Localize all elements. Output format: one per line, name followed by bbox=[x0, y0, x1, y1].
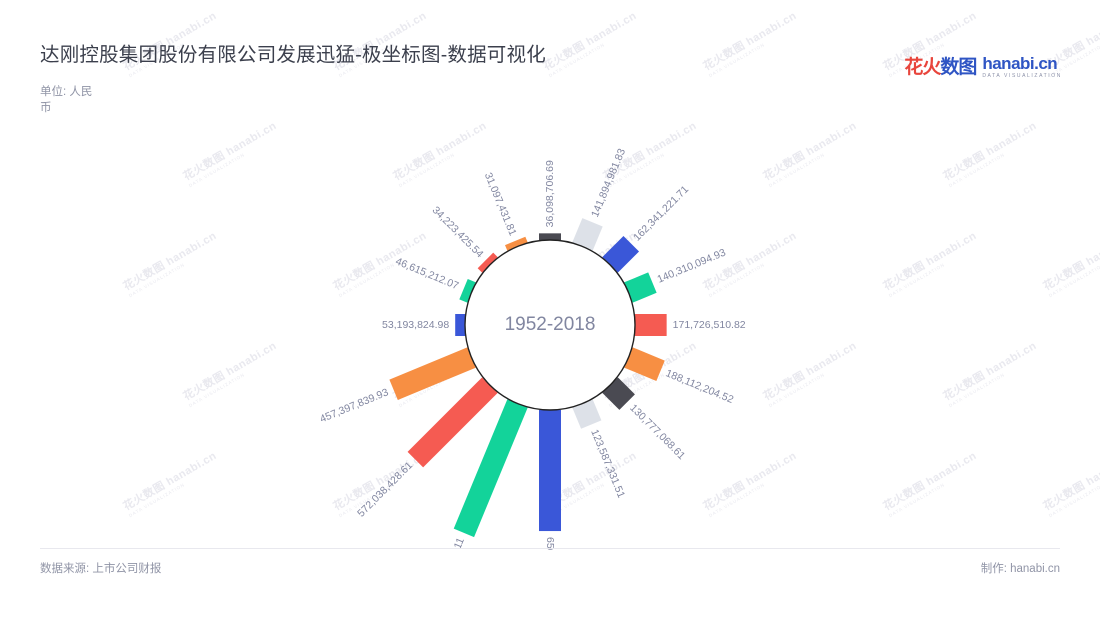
footer-divider bbox=[40, 548, 1060, 549]
polar-bar-rect[interactable] bbox=[389, 347, 475, 400]
polar-bar[interactable] bbox=[408, 377, 498, 467]
polar-bar-rect[interactable] bbox=[539, 410, 561, 531]
logo-english-block: hanabi.cn DATA VISUALIZATION bbox=[982, 55, 1062, 79]
chart-page: 花火数图 hanabi.cnDATA VISUALIZATION花火数图 han… bbox=[0, 0, 1100, 620]
polar-bar-rect[interactable] bbox=[539, 233, 561, 240]
logo-chinese-text: 花火数图 bbox=[904, 58, 976, 77]
page-title: 达刚控股集团股份有限公司发展迅猛-极坐标图-数据可视化 bbox=[40, 38, 546, 67]
logo-en-main: hanabi.cn bbox=[982, 55, 1062, 72]
polar-bar-value-label: 162,341,221.71 bbox=[631, 183, 691, 243]
watermark: 花火数图 hanabi.cnDATA VISUALIZATION bbox=[540, 7, 642, 78]
polar-bar[interactable] bbox=[635, 314, 667, 336]
hanabi-logo: 花火数图 hanabi.cn DATA VISUALIZATION bbox=[904, 52, 1062, 82]
polar-bar[interactable] bbox=[539, 233, 561, 240]
polar-bar-value-label: 130,777,068.61 bbox=[627, 402, 687, 462]
polar-bar-value-label: 31,097,431.81 bbox=[482, 171, 519, 238]
polar-bar[interactable] bbox=[539, 410, 561, 531]
watermark: 花火数图 hanabi.cnDATA VISUALIZATION bbox=[700, 7, 802, 78]
polar-bar-value-label: 34,223,425.54 bbox=[430, 204, 486, 260]
logo-cn-part1: 花火 bbox=[904, 57, 940, 78]
polar-bar-value-label: 53,193,824.98 bbox=[382, 319, 449, 331]
polar-bar-rect[interactable] bbox=[408, 377, 498, 467]
polar-bar-value-label: 188,112,204.52 bbox=[664, 367, 735, 406]
polar-bar-value-label: 457,397,839.93 bbox=[318, 386, 390, 425]
chart-center-label: 1952-2018 bbox=[505, 314, 596, 335]
polar-bar-value-label: 141,894,981.83 bbox=[589, 147, 628, 219]
polar-bar-value-label: 46,615,212.07 bbox=[394, 255, 461, 292]
polar-bar[interactable] bbox=[389, 347, 475, 400]
polar-bar-value-label: 171,726,510.82 bbox=[673, 319, 746, 331]
polar-bar-rect[interactable] bbox=[455, 314, 465, 336]
polar-bar[interactable] bbox=[455, 314, 465, 336]
chart-unit-subtitle: 单位: 人民币 bbox=[40, 84, 100, 116]
polar-bar-chart: 36,098,706.69141,894,981.83162,341,221.7… bbox=[0, 100, 1100, 550]
polar-bar-value-label: 572,038,428.61 bbox=[355, 459, 415, 519]
credit-text: 制作: hanabi.cn bbox=[981, 560, 1060, 576]
polar-bar-value-label: 36,098,706.69 bbox=[544, 160, 556, 227]
polar-bar-rect[interactable] bbox=[635, 314, 667, 336]
polar-bar-value-label: 140,310,094.93 bbox=[656, 247, 728, 286]
polar-chart-svg: 36,098,706.69141,894,981.83162,341,221.7… bbox=[0, 100, 1100, 550]
polar-bar-value-label: 123,587,331.51 bbox=[588, 428, 627, 500]
data-source-text: 数据来源: 上市公司财报 bbox=[40, 560, 161, 576]
logo-cn-part2: 数图 bbox=[940, 57, 976, 78]
logo-en-sub: DATA VISUALIZATION bbox=[982, 74, 1062, 79]
